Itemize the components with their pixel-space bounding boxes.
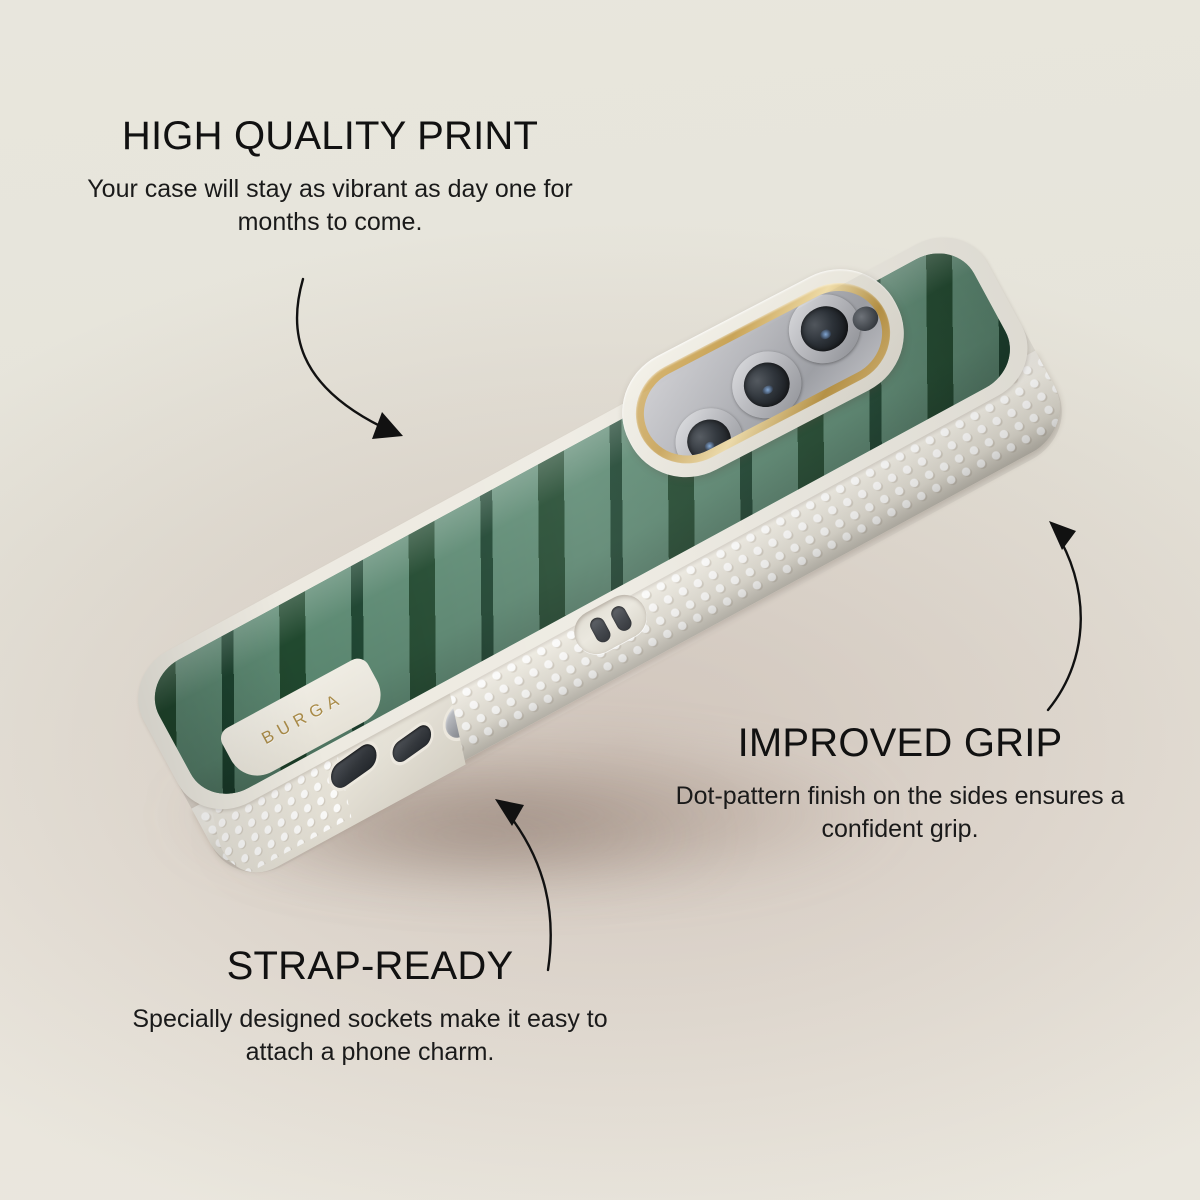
lens-glint: [819, 328, 832, 340]
strap-hole: [608, 604, 634, 634]
usb-c-port-icon: [390, 721, 434, 766]
feature-title: IMPROVED GRIP: [660, 722, 1140, 764]
feature-block-improved-grip: IMPROVED GRIP Dot-pattern finish on the …: [660, 722, 1140, 846]
feature-description: Your case will stay as vibrant as day on…: [60, 173, 600, 239]
feature-description: Dot-pattern finish on the sides ensures …: [660, 780, 1140, 846]
feature-description: Specially designed sockets make it easy …: [100, 1003, 640, 1069]
feature-title: HIGH QUALITY PRINT: [60, 115, 600, 157]
strap-hole: [587, 615, 613, 645]
feature-block-high-quality-print: HIGH QUALITY PRINT Your case will stay a…: [60, 115, 600, 239]
lens-glint: [704, 440, 717, 452]
lens-glint: [761, 384, 774, 396]
feature-block-strap-ready: STRAP-READY Specially designed sockets m…: [100, 945, 640, 1069]
product-feature-graphic: BURGA: [0, 0, 1200, 1200]
feature-title: STRAP-READY: [100, 945, 640, 987]
